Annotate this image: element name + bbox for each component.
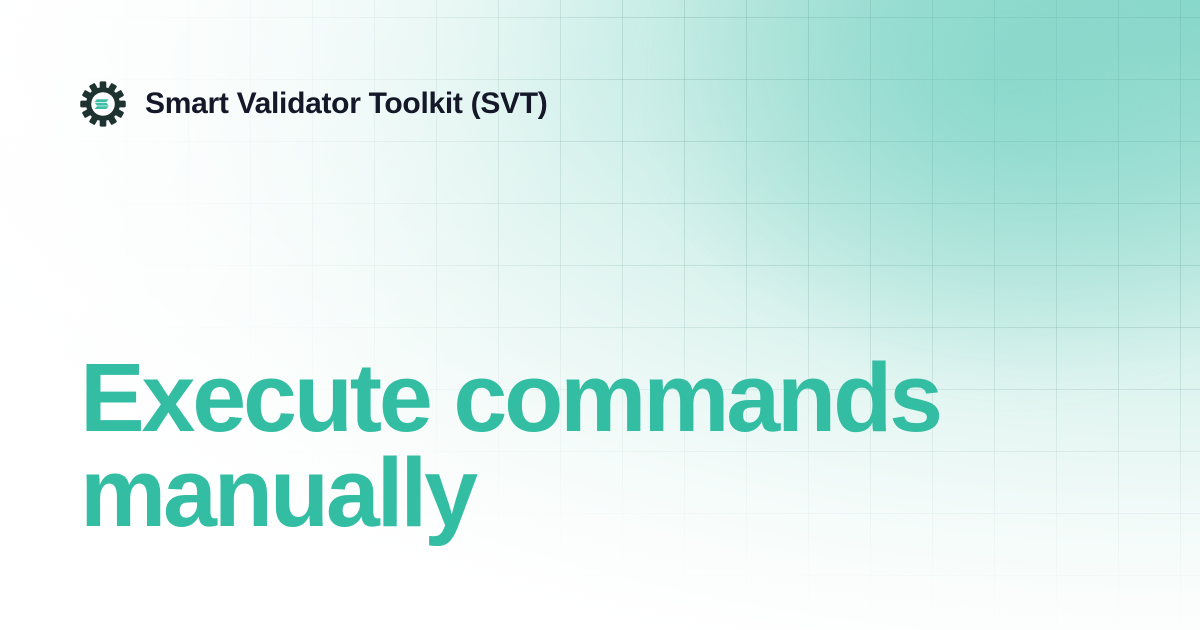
page-headline: Execute commands manually [80, 350, 1080, 540]
card-content: Smart Validator Toolkit (SVT) Execute co… [0, 0, 1200, 630]
gear-validator-icon [80, 81, 126, 127]
brand-name-label: Smart Validator Toolkit (SVT) [145, 89, 547, 119]
og-card-canvas: Smart Validator Toolkit (SVT) Execute co… [0, 0, 1200, 630]
brand-lockup: Smart Validator Toolkit (SVT) [80, 80, 547, 128]
